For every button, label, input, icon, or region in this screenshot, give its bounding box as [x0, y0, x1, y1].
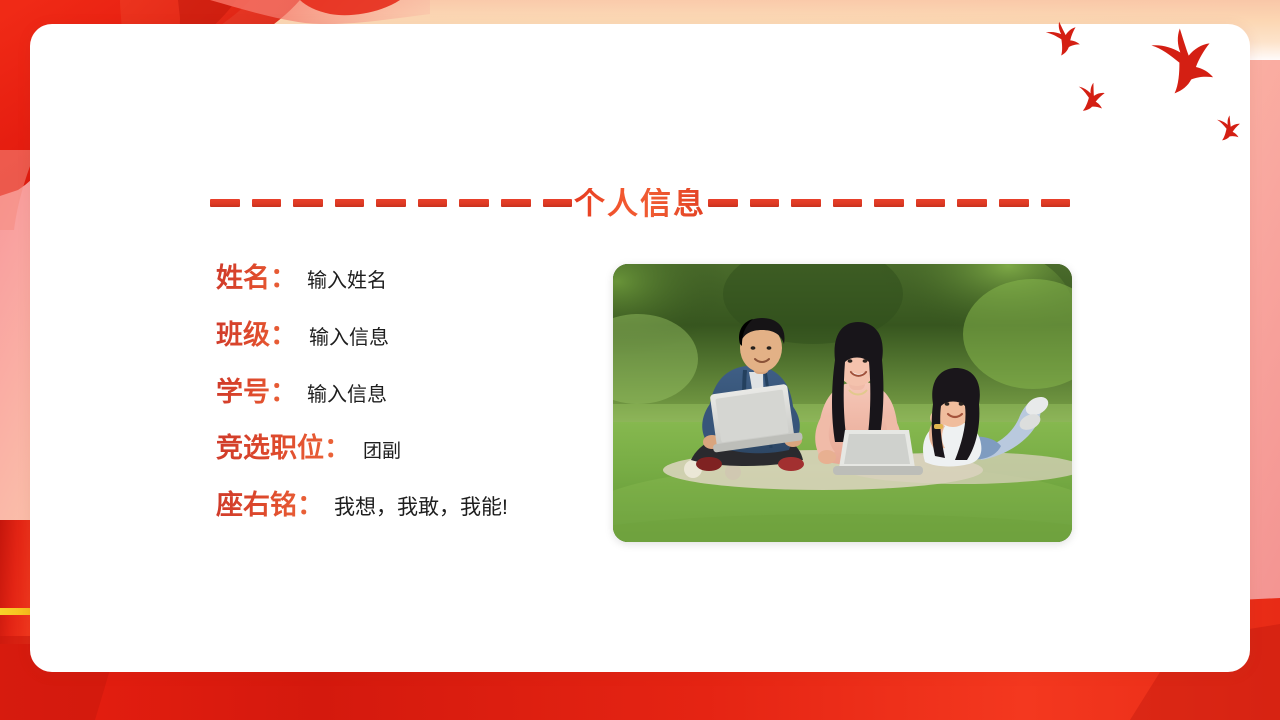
label-name: 姓名：: [216, 262, 297, 296]
info-row-position: 竞选职位： 团副: [216, 432, 596, 466]
bird-small-left-icon: [1044, 18, 1081, 58]
info-row-name: 姓名： 输入姓名: [216, 262, 596, 296]
divider-left: [210, 199, 572, 208]
info-row-student-id: 学号： 输入信息: [216, 376, 596, 410]
label-motto: 座右铭：: [216, 489, 324, 523]
info-row-motto: 座右铭： 我想，我敢，我能!: [216, 489, 596, 523]
value-name[interactable]: 输入姓名: [307, 268, 387, 294]
value-class[interactable]: 输入信息: [309, 325, 389, 351]
page-title: 个人信息: [572, 188, 708, 219]
decoration-birds: [1020, 18, 1260, 148]
value-position[interactable]: 团副: [363, 440, 401, 465]
label-student-id: 学号：: [216, 376, 297, 410]
personal-info-list: 姓名： 输入姓名 班级： 输入信息 学号： 输入信息 竞选职位： 团副 座右铭：…: [216, 262, 596, 546]
slide-root: 个人信息 姓名： 输入姓名 班级： 输入信息 学号： 输入信息 竞选职位： 团副…: [0, 0, 1280, 720]
bird-small-right-icon: [1215, 114, 1241, 142]
info-row-class: 班级： 输入信息: [216, 319, 596, 353]
bird-large-icon: [1150, 26, 1214, 96]
label-class: 班级：: [216, 319, 297, 353]
section-title-row: 个人信息: [210, 178, 1070, 228]
label-position: 竞选职位：: [216, 432, 351, 466]
students-photo: [613, 264, 1072, 542]
divider-right: [708, 199, 1070, 208]
value-student-id[interactable]: 输入信息: [307, 382, 387, 408]
value-motto[interactable]: 我想，我敢，我能!: [334, 494, 508, 521]
bird-medium-lower-icon: [1075, 80, 1106, 114]
